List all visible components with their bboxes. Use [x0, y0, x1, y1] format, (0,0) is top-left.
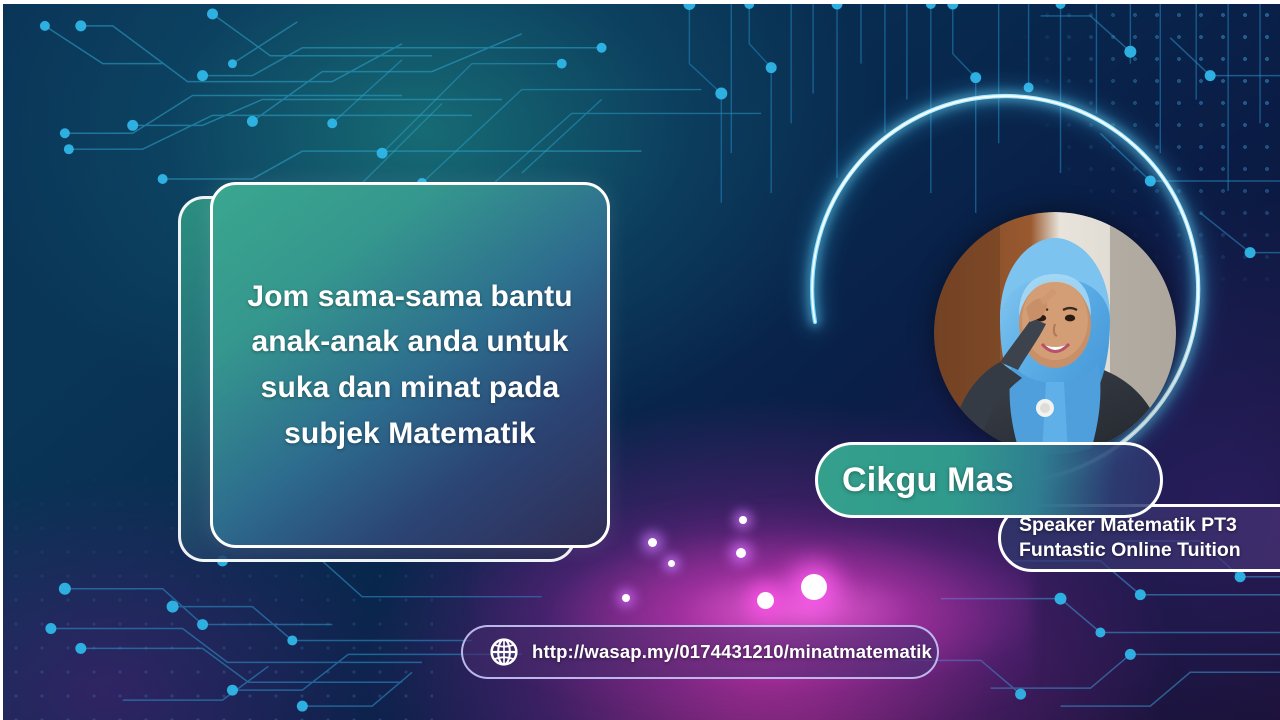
- quote-line: subjek Matematik: [247, 411, 572, 457]
- portrait-photo: [934, 212, 1176, 454]
- quote-card: Jom sama-sama bantu anak-anak anda untuk…: [178, 182, 618, 564]
- link-pill[interactable]: http://wasap.my/0174431210/minatmatemati…: [461, 625, 939, 679]
- quote-text: Jom sama-sama bantu anak-anak anda untuk…: [231, 274, 588, 456]
- globe-icon: [489, 637, 519, 667]
- poster-canvas: Jom sama-sama bantu anak-anak anda untuk…: [0, 0, 1280, 720]
- avatar: [934, 212, 1176, 454]
- quote-card-front: Jom sama-sama bantu anak-anak anda untuk…: [210, 182, 610, 548]
- quote-line: anak-anak anda untuk: [247, 319, 572, 365]
- speaker-name: Cikgu Mas: [842, 461, 1014, 500]
- quote-line: Jom sama-sama bantu: [247, 274, 572, 320]
- link-url-text[interactable]: http://wasap.my/0174431210/minatmatemati…: [532, 641, 932, 663]
- speaker-name-card: Cikgu Mas: [815, 442, 1163, 518]
- speaker-role-line-2: Funtastic Online Tuition: [1019, 538, 1241, 563]
- quote-line: suka dan minat pada: [247, 365, 572, 411]
